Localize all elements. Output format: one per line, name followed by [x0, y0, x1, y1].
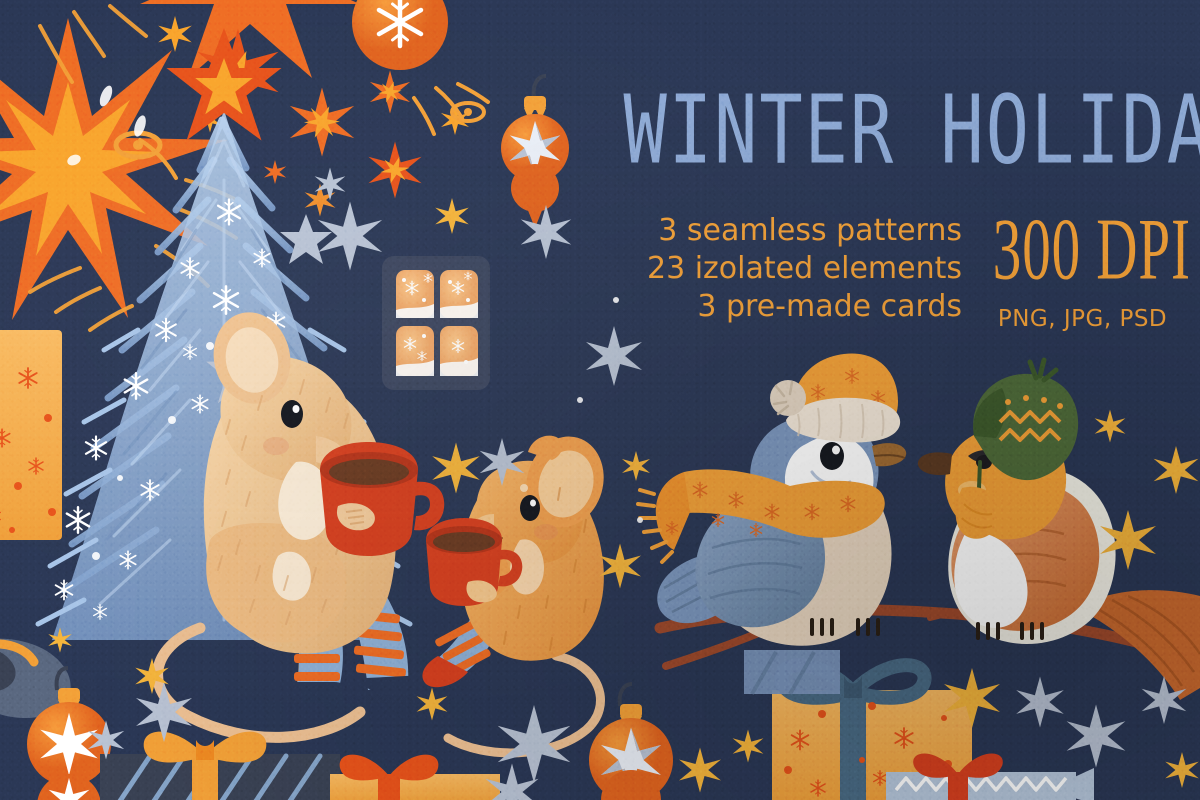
feature-list: 3 seamless patterns 23 izolated elements… — [580, 212, 962, 326]
poster-canvas: WINTER HOLIDAY 3 seamless patterns 23 iz… — [0, 0, 1200, 800]
resolution-label: 300 DPI — [993, 206, 1172, 294]
feature-item-1: 3 seamless patterns — [580, 212, 962, 250]
gift-left-edge — [0, 330, 62, 540]
gift-blue-top-right — [744, 650, 840, 694]
page-title: WINTER HOLIDAY — [624, 78, 1177, 181]
bauble-hanging-top — [501, 76, 569, 228]
formats-label: PNG, JPG, PSD — [985, 306, 1180, 332]
small-mouse — [422, 427, 614, 753]
gift-dark-striped — [100, 732, 340, 800]
orange-bird — [918, 360, 1200, 700]
bauble-top — [352, 0, 448, 70]
gift-orange-bottom-left — [330, 755, 500, 800]
mug-large — [320, 442, 444, 556]
specs-block: 300 DPI PNG, JPG, PSD — [985, 206, 1180, 332]
feature-item-2: 23 izolated elements — [580, 250, 962, 288]
window — [382, 256, 490, 390]
feature-item-3: 3 pre-made cards — [580, 288, 962, 326]
blue-bird — [638, 354, 906, 646]
gift-blue-small — [886, 753, 1094, 800]
